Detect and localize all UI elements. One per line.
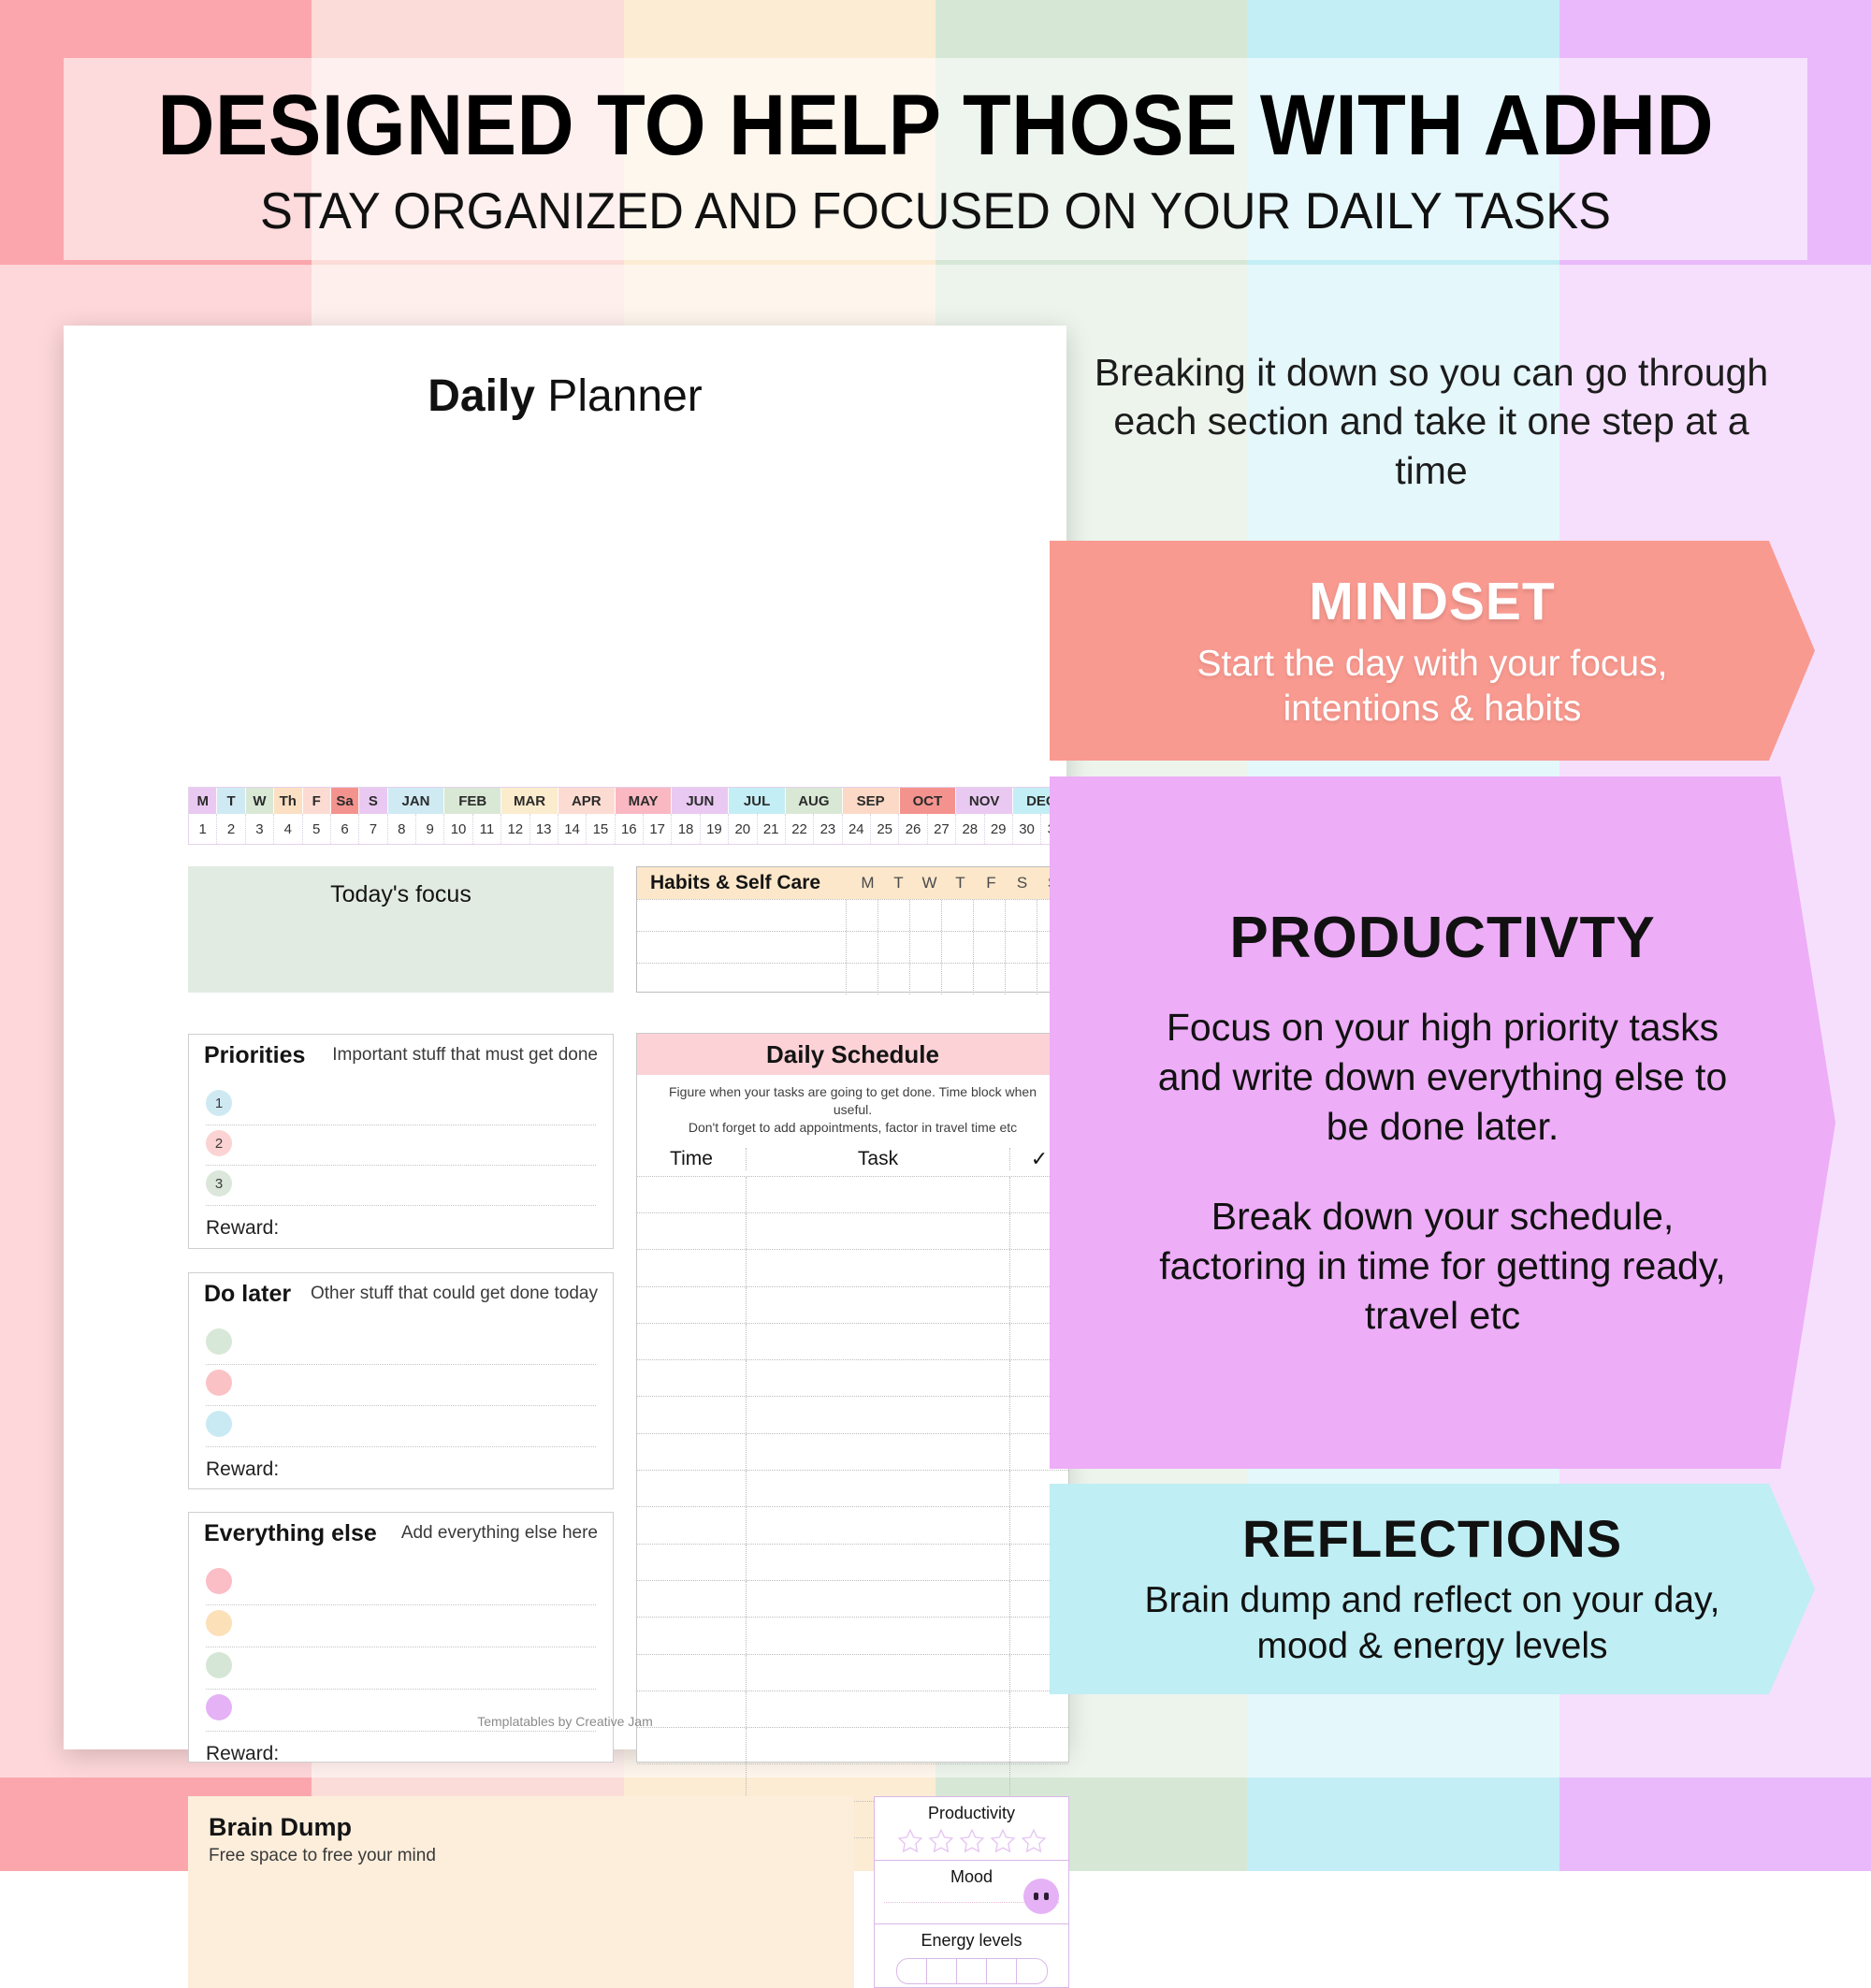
habit-check-cell[interactable] — [941, 932, 973, 963]
do-later-subtitle: Other stuff that could get done today — [311, 1284, 598, 1304]
do-later-item[interactable] — [206, 1324, 596, 1365]
schedule-time-cell[interactable] — [637, 1434, 746, 1470]
star-icon[interactable] — [927, 1827, 955, 1855]
schedule-row[interactable] — [637, 1433, 1068, 1470]
planner-footer: Templatables by Creative Jam — [64, 1714, 1066, 1729]
calendar-month-jul[interactable]: JUL — [729, 788, 786, 814]
calendar-date-9[interactable]: 9 — [416, 814, 444, 844]
schedule-time-cell[interactable] — [637, 1360, 746, 1396]
schedule-time-cell[interactable] — [637, 1581, 746, 1617]
calendar-date-22[interactable]: 22 — [786, 814, 814, 844]
calendar-day-th[interactable]: Th — [274, 788, 302, 814]
daily-schedule-rows[interactable] — [637, 1176, 1068, 1875]
habit-check-grid[interactable] — [846, 900, 1068, 931]
calendar-date-2[interactable]: 2 — [217, 814, 245, 844]
calendar-day-t[interactable]: T — [217, 788, 245, 814]
everything-else-subtitle: Add everything else here — [401, 1523, 598, 1544]
calendar-date-8[interactable]: 8 — [388, 814, 416, 844]
schedule-time-cell[interactable] — [637, 1507, 746, 1543]
habit-check-cell[interactable] — [877, 964, 909, 994]
priorities-list[interactable]: 123 — [189, 1076, 613, 1206]
habit-check-cell[interactable] — [973, 932, 1005, 963]
todays-focus-label: Today's focus — [330, 881, 471, 908]
habit-row[interactable] — [637, 931, 1068, 963]
calendar-date-10[interactable]: 10 — [444, 814, 472, 844]
schedule-row[interactable] — [637, 1506, 1068, 1543]
todays-focus-box[interactable]: Today's focus — [188, 866, 614, 993]
header-band: DESIGNED TO HELP THOSE WITH ADHD STAY OR… — [64, 58, 1807, 260]
calendar-month-sep[interactable]: SEP — [843, 788, 900, 814]
schedule-task-cell[interactable] — [746, 1324, 1010, 1359]
calendar-day-s[interactable]: S — [359, 788, 387, 814]
reflection-widgets[interactable]: Productivity Mood Energy levels — [874, 1796, 1069, 1988]
calendar-date-23[interactable]: 23 — [814, 814, 842, 844]
habits-rows[interactable] — [637, 899, 1068, 994]
calendar-month-aug[interactable]: AUG — [786, 788, 843, 814]
habit-check-cell[interactable] — [846, 964, 877, 994]
daily-schedule-note-line2: Don't forget to add appointments, factor… — [654, 1119, 1052, 1137]
energy-levels[interactable]: Energy levels — [875, 1924, 1068, 1987]
list-bullet-icon — [206, 1610, 232, 1636]
calendar-day-f[interactable]: F — [303, 788, 331, 814]
schedule-task-cell[interactable] — [746, 1764, 1010, 1800]
calendar-date-20[interactable]: 20 — [729, 814, 757, 844]
schedule-col-task: Task — [746, 1148, 1010, 1170]
header-title: DESIGNED TO HELP THOSE WITH ADHD — [157, 82, 1714, 168]
habit-day-col-1: M — [852, 874, 883, 892]
habit-check-cell[interactable] — [1005, 900, 1037, 931]
calendar-date-3[interactable]: 3 — [246, 814, 274, 844]
schedule-task-cell[interactable] — [746, 1360, 1010, 1396]
brain-dump-title: Brain Dump — [209, 1813, 834, 1842]
brain-dump-subtitle: Free space to free your mind — [209, 1846, 834, 1866]
calendar-date-19[interactable]: 19 — [701, 814, 729, 844]
productivity-rating[interactable]: Productivity — [875, 1797, 1068, 1861]
schedule-row[interactable] — [637, 1727, 1068, 1763]
mood-tracker[interactable]: Mood — [875, 1861, 1068, 1924]
calendar-dates-row[interactable]: 1234567891011121314151617181920212223242… — [189, 814, 1070, 844]
calendar-day-sa[interactable]: Sa — [331, 788, 359, 814]
productivity-body-1: Focus on your high priority tasks and wr… — [1143, 1003, 1742, 1153]
mindset-banner: MINDSET Start the day with your focus, i… — [1050, 541, 1815, 761]
calendar-date-14[interactable]: 14 — [558, 814, 587, 844]
energy-segment[interactable] — [927, 1959, 957, 1983]
list-bullet-icon: 1 — [206, 1090, 232, 1116]
schedule-task-cell[interactable] — [746, 1471, 1010, 1506]
energy-segment[interactable] — [1017, 1959, 1046, 1983]
header-subtitle: STAY ORGANIZED AND FOCUSED ON YOUR DAILY… — [260, 185, 1611, 237]
schedule-task-cell[interactable] — [746, 1213, 1010, 1249]
everything-else-list[interactable] — [189, 1554, 613, 1732]
everything-else-item[interactable] — [206, 1647, 596, 1690]
calendar-date-7[interactable]: 7 — [359, 814, 387, 844]
priorities-header: Priorities Important stuff that must get… — [189, 1035, 613, 1076]
do-later-reward[interactable]: Reward: — [189, 1447, 613, 1481]
schedule-row[interactable] — [637, 1323, 1068, 1359]
schedule-task-cell[interactable] — [746, 1250, 1010, 1285]
habit-check-grid[interactable] — [846, 932, 1068, 963]
habit-day-col-2: T — [883, 874, 914, 892]
do-later-box[interactable]: Do later Other stuff that could get done… — [188, 1272, 614, 1489]
habit-check-cell[interactable] — [846, 932, 877, 963]
reflections-body-line1: Brain dump and reflect on your day, — [1145, 1578, 1720, 1624]
habit-check-cell[interactable] — [941, 900, 973, 931]
calendar-date-29[interactable]: 29 — [985, 814, 1013, 844]
calendar-date-30[interactable]: 30 — [1013, 814, 1041, 844]
everything-else-title: Everything else — [204, 1520, 377, 1547]
reflections-body-line2: mood & energy levels — [1145, 1624, 1720, 1670]
intro-text: Breaking it down so you can go through e… — [1076, 348, 1787, 495]
habit-row[interactable] — [637, 899, 1068, 931]
calendar-date-4[interactable]: 4 — [274, 814, 302, 844]
calendar-month-jun[interactable]: JUN — [672, 788, 729, 814]
calendar-date-21[interactable]: 21 — [758, 814, 786, 844]
habit-check-cell[interactable] — [877, 932, 909, 963]
calendar-date-18[interactable]: 18 — [672, 814, 700, 844]
calendar-date-1[interactable]: 1 — [189, 814, 217, 844]
calendar-date-26[interactable]: 26 — [899, 814, 927, 844]
daily-schedule-box[interactable]: Daily Schedule Figure when your tasks ar… — [636, 1033, 1069, 1763]
habit-name-input[interactable] — [637, 964, 846, 994]
calendar-date-5[interactable]: 5 — [303, 814, 331, 844]
schedule-task-cell[interactable] — [746, 1655, 1010, 1691]
calendar-date-17[interactable]: 17 — [644, 814, 672, 844]
reflections-body: Brain dump and reflect on your day, mood… — [1145, 1578, 1720, 1670]
mindset-body-line1: Start the day with your focus, — [1197, 642, 1668, 687]
calendar-month-jan[interactable]: JAN — [388, 788, 445, 814]
schedule-row[interactable] — [637, 1763, 1068, 1800]
habit-day-col-3: W — [914, 874, 945, 892]
habits-day-columns: MTWTFSS — [852, 874, 1068, 892]
habit-check-cell[interactable] — [909, 964, 941, 994]
list-bullet-icon — [206, 1568, 232, 1594]
schedule-row[interactable] — [637, 1359, 1068, 1396]
schedule-row[interactable] — [637, 1212, 1068, 1249]
reflections-heading: REFLECTIONS — [1242, 1508, 1622, 1569]
eye-left-icon — [1034, 1893, 1038, 1900]
list-bullet-icon — [206, 1652, 232, 1678]
habit-check-cell[interactable] — [909, 932, 941, 963]
mindset-heading: MINDSET — [1309, 571, 1556, 632]
priorities-item[interactable]: 2 — [206, 1125, 596, 1166]
schedule-time-cell[interactable] — [637, 1618, 746, 1653]
priorities-reward-label: Reward: — [206, 1217, 279, 1239]
calendar-month-nov[interactable]: NOV — [956, 788, 1013, 814]
schedule-row[interactable] — [637, 1470, 1068, 1506]
habit-check-cell[interactable] — [973, 900, 1005, 931]
habit-check-cell[interactable] — [1005, 964, 1037, 994]
habit-day-col-5: F — [976, 874, 1007, 892]
daily-schedule-note: Figure when your tasks are going to get … — [637, 1075, 1068, 1142]
everything-else-header: Everything else Add everything else here — [189, 1513, 613, 1554]
calendar-date-13[interactable]: 13 — [530, 814, 558, 844]
productivity-stars[interactable] — [896, 1827, 1048, 1855]
schedule-row[interactable] — [637, 1396, 1068, 1432]
schedule-row[interactable] — [637, 1617, 1068, 1653]
habit-check-grid[interactable] — [846, 964, 1068, 994]
calendar-date-15[interactable]: 15 — [587, 814, 615, 844]
list-bullet-icon — [206, 1370, 232, 1396]
schedule-time-cell[interactable] — [637, 1728, 746, 1763]
reflections-banner: REFLECTIONS Brain dump and reflect on yo… — [1050, 1484, 1815, 1694]
schedule-time-cell[interactable] — [637, 1324, 746, 1359]
calendar-month-feb[interactable]: FEB — [444, 788, 501, 814]
everything-else-reward-label: Reward: — [206, 1743, 279, 1764]
schedule-row[interactable] — [637, 1544, 1068, 1580]
calendar-month-may[interactable]: MAY — [616, 788, 673, 814]
schedule-time-cell[interactable] — [637, 1545, 746, 1580]
habit-check-cell[interactable] — [909, 900, 941, 931]
calendar-strip[interactable]: MTWThFSaSJANFEBMARAPRMAYJUNJULAUGSEPOCTN… — [188, 787, 1071, 845]
schedule-task-cell[interactable] — [746, 1397, 1010, 1432]
list-bullet-icon — [206, 1328, 232, 1355]
calendar-day-w[interactable]: W — [246, 788, 274, 814]
calendar-month-mar[interactable]: MAR — [501, 788, 558, 814]
schedule-task-cell[interactable] — [746, 1507, 1010, 1543]
calendar-date-27[interactable]: 27 — [928, 814, 956, 844]
calendar-date-24[interactable]: 24 — [843, 814, 871, 844]
page-title-light: Planner — [535, 371, 703, 421]
daily-schedule-note-line1: Figure when your tasks are going to get … — [654, 1083, 1052, 1119]
list-bullet-icon — [206, 1411, 232, 1437]
schedule-task-cell[interactable] — [746, 1177, 1010, 1212]
calendar-date-11[interactable]: 11 — [473, 814, 501, 844]
schedule-task-cell[interactable] — [746, 1618, 1010, 1653]
habit-check-cell[interactable] — [941, 964, 973, 994]
calendar-day-m[interactable]: M — [189, 788, 217, 814]
productivity-heading: PRODUCTIVTY — [1229, 905, 1655, 971]
priorities-title: Priorities — [204, 1042, 305, 1069]
calendar-date-16[interactable]: 16 — [616, 814, 644, 844]
energy-segment[interactable] — [897, 1959, 927, 1983]
do-later-item[interactable] — [206, 1406, 596, 1447]
daily-schedule-header: Daily Schedule — [637, 1034, 1068, 1075]
habits-title: Habits & Self Care — [637, 872, 820, 894]
energy-segment[interactable] — [957, 1959, 987, 1983]
habit-day-col-6: S — [1007, 874, 1037, 892]
schedule-task-cell[interactable] — [746, 1545, 1010, 1580]
calendar-date-28[interactable]: 28 — [956, 814, 984, 844]
energy-levels-label: Energy levels — [921, 1931, 1022, 1951]
schedule-task-cell[interactable] — [746, 1287, 1010, 1323]
priorities-item[interactable]: 3 — [206, 1166, 596, 1206]
schedule-check-cell[interactable] — [1010, 1764, 1068, 1800]
productivity-banner: PRODUCTIVTY Focus on your high priority … — [1050, 776, 1835, 1469]
habit-name-input[interactable] — [637, 932, 846, 963]
productivity-label: Productivity — [928, 1804, 1015, 1823]
calendar-date-25[interactable]: 25 — [871, 814, 899, 844]
schedule-row[interactable] — [637, 1286, 1068, 1323]
habits-self-care-box[interactable]: Habits & Self Care MTWTFSS — [636, 866, 1069, 993]
habit-check-cell[interactable] — [846, 900, 877, 931]
schedule-col-time: Time — [637, 1148, 746, 1170]
mindset-body-line2: intentions & habits — [1197, 687, 1668, 732]
planner-page: Daily Planner MTWThFSaSJANFEBMARAPRMAYJU… — [64, 326, 1066, 1749]
brain-dump-box[interactable]: Brain Dump Free space to free your mind — [188, 1796, 854, 1988]
smiley-face-icon — [1023, 1879, 1059, 1914]
do-later-item[interactable] — [206, 1365, 596, 1406]
priorities-reward[interactable]: Reward: — [189, 1206, 613, 1240]
schedule-row[interactable] — [637, 1654, 1068, 1691]
schedule-time-cell[interactable] — [637, 1397, 746, 1432]
eye-right-icon — [1044, 1893, 1049, 1900]
schedule-time-cell[interactable] — [637, 1764, 746, 1800]
habit-row[interactable] — [637, 963, 1068, 994]
schedule-task-cell[interactable] — [746, 1434, 1010, 1470]
energy-levels-bar[interactable] — [896, 1958, 1048, 1984]
schedule-task-cell[interactable] — [746, 1581, 1010, 1617]
everything-else-reward[interactable]: Reward: — [189, 1732, 613, 1765]
schedule-time-cell[interactable] — [637, 1250, 746, 1285]
priorities-box[interactable]: Priorities Important stuff that must get… — [188, 1034, 614, 1249]
list-bullet-icon: 2 — [206, 1130, 232, 1156]
page-title-bold: Daily — [428, 371, 535, 421]
schedule-row[interactable] — [637, 1580, 1068, 1617]
productivity-body-2: Break down your schedule, factoring in t… — [1134, 1192, 1751, 1342]
calendar-month-oct[interactable]: OCT — [900, 788, 957, 814]
schedule-row[interactable] — [637, 1249, 1068, 1285]
page-title: Daily Planner — [64, 370, 1066, 422]
daily-schedule-title: Daily Schedule — [766, 1040, 939, 1069]
schedule-time-cell[interactable] — [637, 1471, 746, 1506]
habit-day-col-4: T — [945, 874, 976, 892]
priorities-item[interactable]: 1 — [206, 1085, 596, 1125]
schedule-check-cell[interactable] — [1010, 1728, 1068, 1763]
daily-schedule-columns: Time Task ✓ — [637, 1142, 1068, 1176]
calendar-date-6[interactable]: 6 — [331, 814, 359, 844]
everything-else-item[interactable] — [206, 1563, 596, 1605]
do-later-title: Do later — [204, 1281, 291, 1308]
do-later-reward-label: Reward: — [206, 1458, 279, 1480]
mood-label: Mood — [950, 1867, 993, 1887]
energy-segment[interactable] — [987, 1959, 1017, 1983]
schedule-time-cell[interactable] — [637, 1655, 746, 1691]
list-bullet-icon: 3 — [206, 1170, 232, 1197]
star-icon[interactable] — [958, 1827, 986, 1855]
schedule-task-cell[interactable] — [746, 1728, 1010, 1763]
everything-else-item[interactable] — [206, 1605, 596, 1647]
calendar-date-12[interactable]: 12 — [501, 814, 529, 844]
do-later-list[interactable] — [189, 1314, 613, 1447]
calendar-labels-row: MTWThFSaSJANFEBMARAPRMAYJUNJULAUGSEPOCTN… — [189, 788, 1070, 814]
schedule-time-cell[interactable] — [637, 1177, 746, 1212]
schedule-time-cell[interactable] — [637, 1213, 746, 1249]
habit-name-input[interactable] — [637, 900, 846, 931]
schedule-row[interactable] — [637, 1176, 1068, 1212]
habits-header: Habits & Self Care MTWTFSS — [637, 867, 1068, 899]
schedule-time-cell[interactable] — [637, 1287, 746, 1323]
priorities-subtitle: Important stuff that must get done — [332, 1045, 598, 1066]
star-icon[interactable] — [1020, 1827, 1048, 1855]
star-icon[interactable] — [896, 1827, 924, 1855]
habit-check-cell[interactable] — [877, 900, 909, 931]
calendar-month-apr[interactable]: APR — [558, 788, 616, 814]
do-later-header: Do later Other stuff that could get done… — [189, 1273, 613, 1314]
mindset-body: Start the day with your focus, intention… — [1197, 642, 1668, 731]
habit-check-cell[interactable] — [1005, 932, 1037, 963]
star-icon[interactable] — [989, 1827, 1017, 1855]
habit-check-cell[interactable] — [973, 964, 1005, 994]
